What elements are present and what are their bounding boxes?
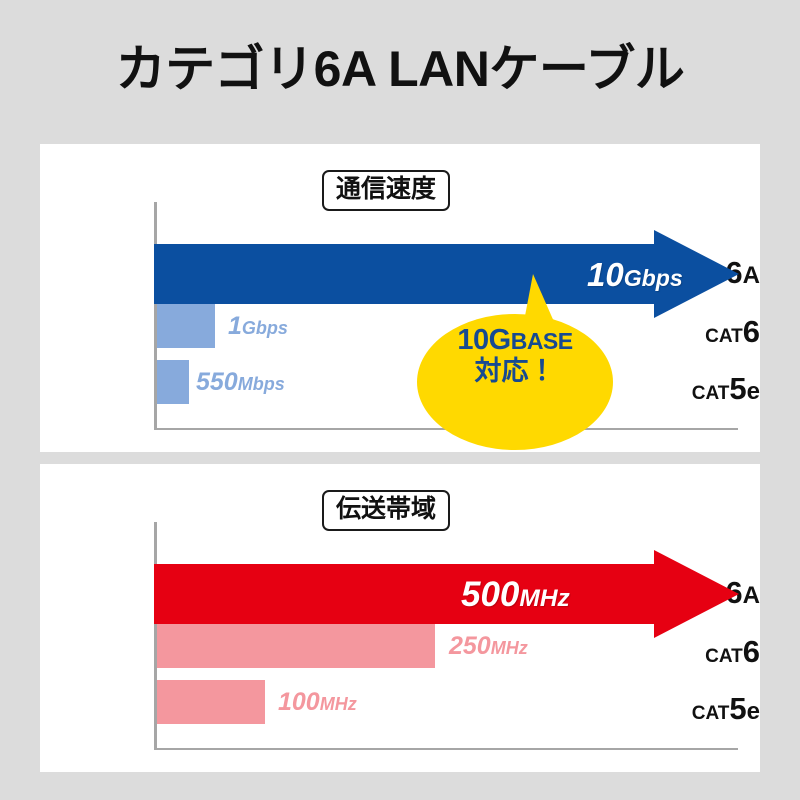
speed-value-cat6a-unit: Gbps: [624, 265, 683, 291]
callout-line1: 10GBASE: [415, 324, 615, 356]
speed-bar-cat5e: [157, 360, 189, 404]
cat-prefix: CAT: [692, 703, 730, 724]
cat-suffix: A: [743, 262, 760, 289]
speed-value-cat6: 1Gbps: [228, 314, 288, 339]
bandwidth-value-cat5e-unit: MHz: [320, 694, 357, 714]
speed-value-cat5e-number: 550: [196, 368, 238, 396]
speed-value-cat5e-unit: Mbps: [238, 374, 285, 394]
speed-value-cat6-number: 1: [228, 312, 242, 340]
cat-main: 6: [743, 634, 760, 669]
speed-value-cat5e: 550Mbps: [196, 370, 285, 395]
poster-root: カテゴリ6A LANケーブル 通信速度 CAT6A 10Gbps CAT6: [0, 0, 800, 800]
callout-line1-main: 10G: [457, 324, 510, 356]
speed-chart: 通信速度 CAT6A 10Gbps CAT6 1Gbps CAT5e: [40, 144, 760, 452]
bandwidth-value-cat6-unit: MHz: [491, 638, 528, 658]
cat-main: 5: [729, 691, 746, 726]
bandwidth-value-cat6: 250MHz: [449, 634, 528, 659]
bandwidth-value-cat5e: 100MHz: [278, 690, 357, 715]
callout-line2: 対応！: [415, 356, 615, 386]
bandwidth-value-cat6-number: 250: [449, 632, 491, 660]
speed-row-label-cat6: CAT6: [656, 316, 760, 347]
bandwidth-chart-title: 伝送帯域: [322, 490, 450, 531]
bandwidth-chart-x-axis: [154, 748, 738, 750]
speed-row-label-cat5e: CAT5e: [656, 373, 760, 404]
bandwidth-row-label-cat6: CAT6: [656, 636, 760, 667]
speed-bar-cat6: [157, 304, 215, 348]
bandwidth-chart: 伝送帯域 CAT6A 500MHz CAT6 250MHz CAT5e: [40, 464, 760, 772]
callout-line1-small: BASE: [511, 328, 573, 354]
cat-main: 6: [743, 314, 760, 349]
cat-prefix: CAT: [705, 326, 743, 347]
bandwidth-row-label-cat5e: CAT5e: [656, 693, 760, 724]
speed-chart-panel: 通信速度 CAT6A 10Gbps CAT6 1Gbps CAT5e: [40, 144, 760, 452]
callout-10gbase: 10GBASE 対応！: [415, 272, 615, 457]
cat-prefix: CAT: [705, 646, 743, 667]
bandwidth-value-cat6a-number: 500: [461, 575, 519, 614]
callout-text: 10GBASE 対応！: [415, 324, 615, 387]
bandwidth-value-cat6a: 500MHz: [461, 577, 570, 612]
bandwidth-value-cat5e-number: 100: [278, 688, 320, 716]
cat-prefix: CAT: [692, 383, 730, 404]
speed-chart-title: 通信速度: [322, 170, 450, 211]
cat-main: 5: [729, 371, 746, 406]
page-title: カテゴリ6A LANケーブル: [0, 44, 800, 94]
cat-suffix: e: [747, 378, 760, 405]
cat-suffix: e: [747, 698, 760, 725]
bandwidth-bar-cat5e: [157, 680, 265, 724]
bandwidth-value-cat6a-unit: MHz: [519, 585, 569, 612]
cat-suffix: A: [743, 582, 760, 609]
bandwidth-bar-cat6: [157, 624, 435, 668]
bandwidth-chart-panel: 伝送帯域 CAT6A 500MHz CAT6 250MHz CAT5e: [40, 464, 760, 772]
speed-value-cat6-unit: Gbps: [242, 318, 288, 338]
